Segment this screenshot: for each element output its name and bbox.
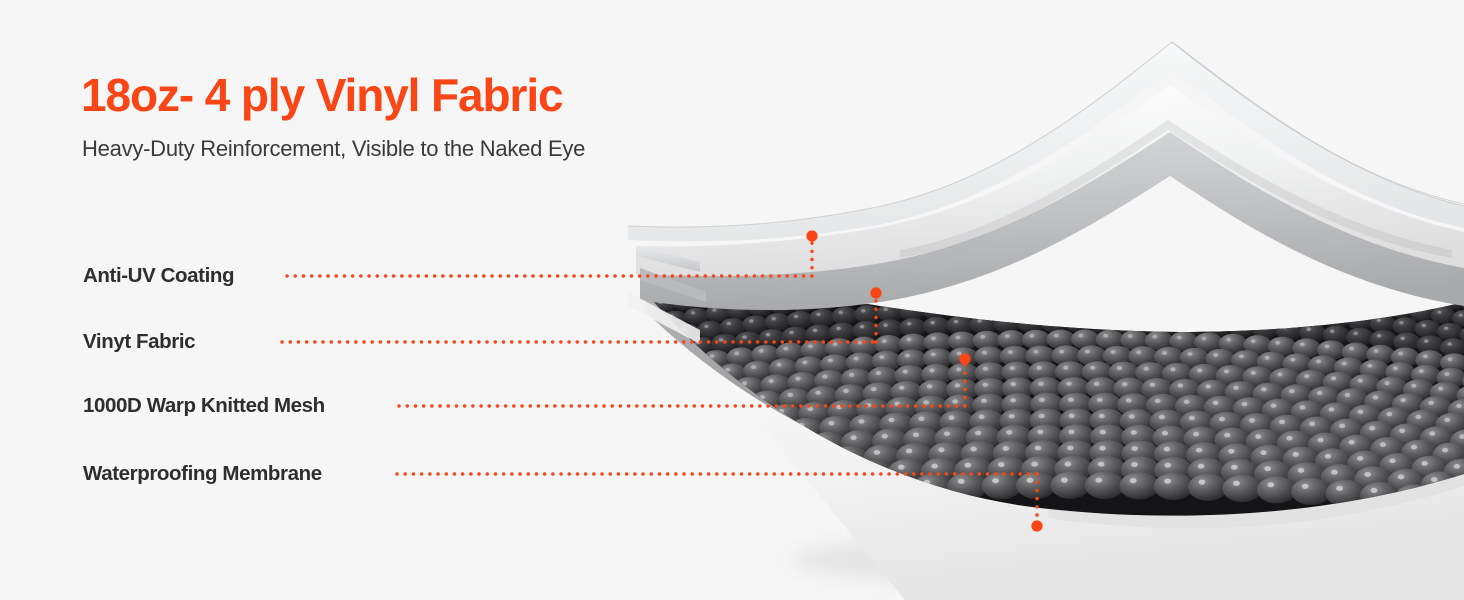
bead-highlight	[1053, 286, 1057, 289]
bead-highlight	[931, 464, 938, 469]
bead-highlight	[757, 442, 763, 447]
bead-highlight	[636, 364, 641, 368]
bead-highlight	[678, 433, 684, 438]
bead-highlight	[611, 367, 616, 371]
bead-highlight	[688, 387, 693, 391]
bead-highlight	[1447, 342, 1452, 346]
bead-highlight	[1189, 320, 1194, 324]
mesh-bead	[721, 469, 760, 495]
bead-highlight	[794, 315, 798, 318]
mesh-bead	[1044, 251, 1066, 266]
bead-highlight	[822, 375, 827, 379]
bead-highlight	[808, 345, 813, 349]
bead-highlight	[1131, 430, 1137, 435]
bead-highlight	[1231, 465, 1238, 470]
bead-highlight	[623, 381, 628, 385]
bead-highlight	[979, 415, 985, 420]
bead-highlight	[1448, 357, 1453, 361]
bead-highlight	[931, 337, 936, 341]
mesh-bead	[787, 311, 813, 329]
mesh-bead	[1367, 299, 1392, 316]
bead-highlight	[1286, 436, 1292, 441]
bead-highlight	[1367, 287, 1371, 290]
bead-highlight	[1199, 480, 1206, 485]
mesh-bead	[741, 482, 781, 509]
bead-highlight	[704, 325, 708, 328]
bead-highlight	[1002, 271, 1006, 274]
bead-highlight	[1118, 318, 1123, 322]
mesh-bead	[1083, 251, 1105, 266]
bead-highlight	[970, 447, 976, 452]
bead-highlight	[1310, 312, 1314, 315]
bead-highlight	[1267, 293, 1271, 296]
bead-highlight	[1271, 404, 1277, 408]
bead-highlight	[1235, 243, 1239, 246]
bead-highlight	[1164, 272, 1168, 275]
bead-highlight	[1411, 384, 1416, 388]
bead-highlight	[1293, 452, 1299, 457]
bead-highlight	[1306, 281, 1310, 284]
mesh-bead	[1068, 282, 1093, 299]
bead-highlight	[1032, 286, 1036, 289]
bead-highlight	[857, 341, 862, 345]
bead-highlight	[1075, 286, 1079, 289]
bead-highlight	[1349, 347, 1354, 351]
bead-highlight	[1255, 434, 1261, 439]
callout-label-1000d-warp-knitted-mesh: 1000D Warp Knitted Mesh	[83, 396, 325, 417]
bead-highlight	[616, 470, 622, 475]
bead-highlight	[1454, 464, 1460, 469]
bead-highlight	[929, 369, 934, 373]
bead-highlight	[1067, 446, 1073, 451]
bead-highlight	[1326, 282, 1330, 285]
bead-highlight	[661, 360, 666, 364]
mesh-bead	[1017, 314, 1044, 333]
bead-highlight	[786, 486, 793, 491]
bead-highlight	[1280, 263, 1284, 266]
callout-label-anti-uv-coating: Anti-UV Coating	[83, 266, 234, 287]
bead-highlight	[796, 377, 801, 381]
bead-highlight	[708, 430, 714, 435]
bead-highlight	[828, 359, 833, 363]
mesh-bead	[1158, 316, 1185, 335]
bead-highlight	[627, 321, 631, 324]
bead-highlight	[1261, 261, 1265, 264]
bead-highlight	[1129, 414, 1135, 419]
bead-highlight	[1358, 410, 1364, 414]
bead-highlight	[906, 449, 912, 454]
bead-highlight	[662, 390, 667, 394]
bead-highlight	[665, 480, 672, 485]
bead-highlight	[1009, 414, 1015, 419]
bead-highlight	[843, 389, 849, 393]
bead-highlight	[1117, 286, 1121, 289]
bead-highlight	[788, 393, 794, 397]
bead-highlight	[676, 404, 682, 408]
bead-highlight	[1023, 270, 1027, 273]
mesh-bead	[1236, 257, 1258, 272]
bead-highlight	[1181, 288, 1185, 291]
bead-highlight	[975, 431, 981, 436]
bead-highlight	[745, 458, 751, 463]
mesh-bead	[654, 445, 690, 470]
mesh-bead	[994, 315, 1021, 334]
bead-highlight	[813, 329, 818, 333]
bead-highlight	[1357, 456, 1363, 461]
mesh-bead	[1199, 270, 1223, 286]
bead-highlight	[1416, 308, 1420, 311]
bead-highlight	[1342, 362, 1347, 366]
bead-highlight	[1329, 407, 1335, 411]
bead-highlight	[1317, 391, 1323, 395]
bead-highlight	[1300, 343, 1305, 347]
bead-highlight	[691, 311, 695, 314]
bead-highlight	[1005, 334, 1010, 338]
bead-highlight	[1395, 305, 1399, 308]
mesh-bead	[1175, 237, 1196, 251]
mesh-bead	[1159, 253, 1181, 268]
bead-highlight	[907, 338, 912, 342]
bead-highlight	[680, 463, 686, 468]
bead-highlight	[659, 331, 663, 334]
mesh-bead	[899, 303, 925, 321]
mesh-bead	[638, 491, 678, 518]
bead-highlight	[1096, 286, 1100, 289]
bead-highlight	[1422, 324, 1426, 327]
bead-highlight	[732, 474, 739, 479]
mesh-bead	[592, 452, 628, 477]
bead-highlight	[982, 351, 987, 355]
bead-highlight	[685, 357, 690, 361]
bead-highlight	[1085, 302, 1089, 305]
mesh-bead	[1026, 282, 1051, 299]
bead-highlight	[1027, 478, 1034, 483]
bead-highlight	[1130, 478, 1137, 483]
bead-highlight	[1103, 334, 1108, 338]
bead-highlight	[1203, 289, 1207, 292]
bead-highlight	[620, 410, 626, 414]
mesh-bead	[627, 389, 658, 410]
bead-highlight	[704, 401, 710, 405]
bead-highlight	[1041, 302, 1045, 305]
mesh-bead	[604, 363, 633, 383]
bead-highlight	[883, 323, 888, 327]
bead-highlight	[1184, 257, 1188, 260]
bead-highlight	[1373, 395, 1379, 399]
bead-highlight	[1251, 339, 1256, 343]
bead-highlight	[635, 394, 640, 398]
bead-highlight	[1079, 334, 1084, 338]
mesh-bead	[640, 402, 672, 424]
mesh-bead	[922, 301, 948, 319]
mesh-bead	[1259, 274, 1283, 290]
mesh-bead	[1248, 242, 1269, 256]
bead-highlight	[1398, 474, 1405, 479]
bead-highlight	[732, 398, 738, 402]
bead-highlight	[1242, 260, 1246, 263]
mesh-bead	[1077, 266, 1101, 282]
bead-highlight	[1165, 256, 1169, 259]
mesh-bead	[809, 309, 835, 327]
bead-highlight	[1177, 336, 1182, 340]
bead-highlight	[1304, 374, 1309, 378]
bead-highlight	[989, 287, 993, 290]
bead-highlight	[1219, 417, 1225, 422]
mesh-bead	[1064, 251, 1086, 266]
mesh-bead	[1257, 476, 1297, 503]
bead-highlight	[1144, 367, 1149, 371]
bead-highlight	[1367, 364, 1372, 368]
bead-highlight	[1325, 454, 1331, 459]
mesh-bead	[755, 466, 794, 492]
bead-highlight	[903, 370, 908, 374]
mesh-bead	[805, 325, 832, 344]
mesh-bead	[1293, 261, 1315, 276]
bead-highlight	[1164, 479, 1171, 484]
bead-highlight	[1331, 298, 1335, 301]
mesh-bead	[1280, 307, 1306, 325]
bead-highlight	[1160, 287, 1164, 290]
bead-highlight	[1217, 242, 1221, 245]
bead-highlight	[907, 322, 912, 326]
bead-highlight	[1108, 254, 1112, 257]
mesh-bead	[1047, 282, 1072, 299]
bead-highlight	[1048, 318, 1053, 322]
bead-highlight	[648, 347, 653, 351]
mesh-bead	[1188, 474, 1228, 501]
bead-highlight	[751, 488, 758, 493]
bead-highlight	[1196, 448, 1202, 453]
bead-highlight	[1385, 381, 1390, 385]
bead-highlight	[944, 432, 950, 437]
bead-highlight	[1419, 369, 1424, 373]
bead-highlight	[1264, 466, 1271, 471]
bead-highlight	[1162, 351, 1167, 355]
bead-highlight	[712, 309, 716, 312]
bead-highlight	[1150, 383, 1156, 387]
bead-highlight	[1165, 463, 1172, 468]
bead-highlight	[1111, 350, 1116, 354]
mesh-bead	[666, 369, 696, 389]
bead-highlight	[919, 416, 925, 421]
bead-highlight	[1095, 478, 1102, 483]
bead-highlight	[759, 349, 764, 353]
bead-highlight	[952, 399, 958, 403]
mesh-bead	[1222, 475, 1262, 502]
mesh-bead	[588, 481, 627, 507]
bead-highlight	[1083, 270, 1087, 273]
mesh-bead	[600, 393, 631, 414]
bead-highlight	[836, 405, 842, 409]
bead-highlight	[1271, 246, 1275, 249]
mesh-bead	[1255, 258, 1277, 273]
mesh-bead	[606, 464, 643, 489]
mesh-bead	[1266, 243, 1287, 257]
bead-highlight	[715, 384, 720, 388]
bead-highlight	[1387, 289, 1391, 292]
mesh-bead	[625, 418, 659, 441]
bead-highlight	[648, 496, 655, 501]
bead-highlight	[1393, 367, 1398, 371]
bead-highlight	[1001, 319, 1006, 323]
bead-highlight	[1059, 350, 1064, 354]
bead-highlight	[1136, 351, 1141, 355]
bead-highlight	[710, 354, 715, 358]
mesh-bead	[1179, 253, 1201, 268]
bead-highlight	[618, 440, 624, 445]
bead-highlight	[648, 467, 654, 472]
mesh-bead	[1057, 266, 1081, 282]
mesh-bead	[1392, 317, 1418, 335]
bead-highlight	[1422, 461, 1428, 466]
bead-highlight	[1098, 462, 1105, 467]
bead-highlight	[695, 447, 701, 452]
bead-highlight	[1364, 472, 1371, 477]
bead-highlight	[1444, 327, 1448, 330]
mesh-bead	[877, 304, 903, 322]
mesh-bead	[1016, 472, 1056, 499]
bead-highlight	[1170, 367, 1175, 371]
bead-highlight	[1069, 414, 1075, 419]
bead-highlight	[1431, 477, 1438, 482]
bead-highlight	[664, 450, 670, 455]
bead-highlight	[1024, 318, 1029, 322]
bead-highlight	[1299, 264, 1303, 267]
bead-highlight	[849, 373, 854, 377]
bead-highlight	[1008, 350, 1013, 354]
bead-highlight	[765, 472, 772, 477]
mesh-bead	[1119, 472, 1159, 499]
bead-highlight	[1175, 304, 1179, 307]
bead-highlight	[1442, 448, 1448, 453]
bead-highlight	[802, 361, 807, 365]
bead-highlight	[1236, 323, 1241, 327]
mesh-bead	[1088, 314, 1115, 333]
mesh-bead	[1101, 298, 1127, 316]
bead-highlight	[700, 371, 705, 375]
bead-highlight	[938, 448, 944, 453]
bead-highlight	[1353, 332, 1358, 336]
bead-highlight	[1031, 462, 1038, 467]
bead-highlight	[789, 331, 794, 335]
bead-highlight	[1411, 445, 1417, 450]
bead-highlight	[632, 483, 639, 488]
mesh-bead	[735, 452, 772, 477]
bead-highlight	[930, 321, 935, 325]
infographic-canvas: 18oz- 4 ply Vinyl Fabric Heavy-Duty Rein…	[0, 0, 1464, 600]
bead-highlight	[1184, 400, 1190, 404]
mesh-bead	[612, 406, 644, 428]
bead-highlight	[1037, 430, 1043, 435]
bead-highlight	[1198, 464, 1205, 469]
bead-highlight	[1245, 276, 1249, 279]
callout-label-vinyt-fabric: Vinyt Fabric	[83, 332, 195, 353]
bead-highlight	[1069, 254, 1073, 257]
bead-highlight	[913, 433, 919, 438]
mesh-bead	[1325, 310, 1351, 328]
bead-highlight	[1346, 284, 1350, 287]
mesh-bead	[775, 480, 815, 507]
bead-highlight	[1124, 271, 1128, 274]
mesh-bead	[1239, 288, 1264, 305]
mesh-bead	[1085, 472, 1125, 499]
bead-highlight	[949, 415, 955, 420]
bead-highlight	[1188, 352, 1193, 356]
bead-highlight	[1205, 385, 1211, 389]
bead-highlight	[1438, 387, 1443, 391]
bead-highlight	[928, 305, 932, 308]
bead-highlight	[1197, 368, 1202, 372]
bead-highlight	[1330, 330, 1335, 334]
bead-highlight	[905, 354, 910, 358]
bead-highlight	[998, 462, 1005, 467]
bead-highlight	[1400, 337, 1405, 341]
bead-highlight	[965, 463, 972, 468]
bead-highlight	[1261, 387, 1267, 391]
mesh-bead	[765, 313, 791, 331]
bead-highlight	[1099, 446, 1105, 451]
bead-highlight	[742, 335, 747, 339]
mesh-bead	[1132, 283, 1157, 300]
mesh-bead	[1111, 314, 1138, 333]
bead-highlight	[1249, 418, 1255, 423]
bead-highlight	[958, 479, 965, 484]
mesh-bead	[672, 488, 712, 515]
bead-highlight	[674, 374, 679, 378]
bead-highlight	[1399, 429, 1405, 434]
bead-highlight	[1063, 366, 1068, 370]
callout-label-waterproofing-membrane: Waterproofing Membrane	[83, 464, 322, 485]
bead-highlight	[1318, 438, 1324, 443]
bead-highlight	[1444, 418, 1450, 422]
mesh-bead	[609, 435, 644, 459]
bead-highlight	[1224, 433, 1230, 438]
bead-highlight	[1097, 398, 1103, 402]
bead-highlight	[927, 384, 933, 388]
mesh-bead	[623, 448, 659, 473]
mesh-bead	[1415, 320, 1441, 338]
bead-highlight	[634, 423, 640, 427]
mesh-bead	[671, 458, 708, 483]
bead-highlight	[968, 288, 972, 291]
bead-highlight	[876, 371, 881, 375]
bead-highlight	[1132, 446, 1138, 451]
bead-highlight	[1223, 259, 1227, 262]
bead-highlight	[648, 377, 653, 381]
bead-highlight	[1275, 341, 1280, 345]
bead-highlight	[1265, 356, 1270, 360]
bead-highlight	[605, 427, 611, 431]
mesh-bead	[1324, 295, 1349, 312]
bead-highlight	[1181, 240, 1185, 243]
mesh-bead	[1217, 287, 1242, 304]
bead-highlight	[1010, 366, 1015, 370]
bead-highlight	[1239, 355, 1244, 359]
bead-highlight	[1259, 324, 1264, 328]
mesh-bead	[966, 300, 992, 318]
bead-highlight	[1373, 303, 1377, 306]
bead-highlight	[1277, 373, 1282, 377]
mesh-bead	[685, 442, 721, 467]
bead-highlight	[983, 367, 988, 371]
bead-highlight	[1428, 401, 1434, 405]
bead-highlight	[1144, 271, 1148, 274]
mesh-bead	[1140, 252, 1162, 267]
bead-highlight	[1325, 345, 1330, 349]
bead-highlight	[1318, 266, 1322, 269]
bead-highlight	[1003, 446, 1009, 451]
mesh-bead	[716, 439, 752, 464]
